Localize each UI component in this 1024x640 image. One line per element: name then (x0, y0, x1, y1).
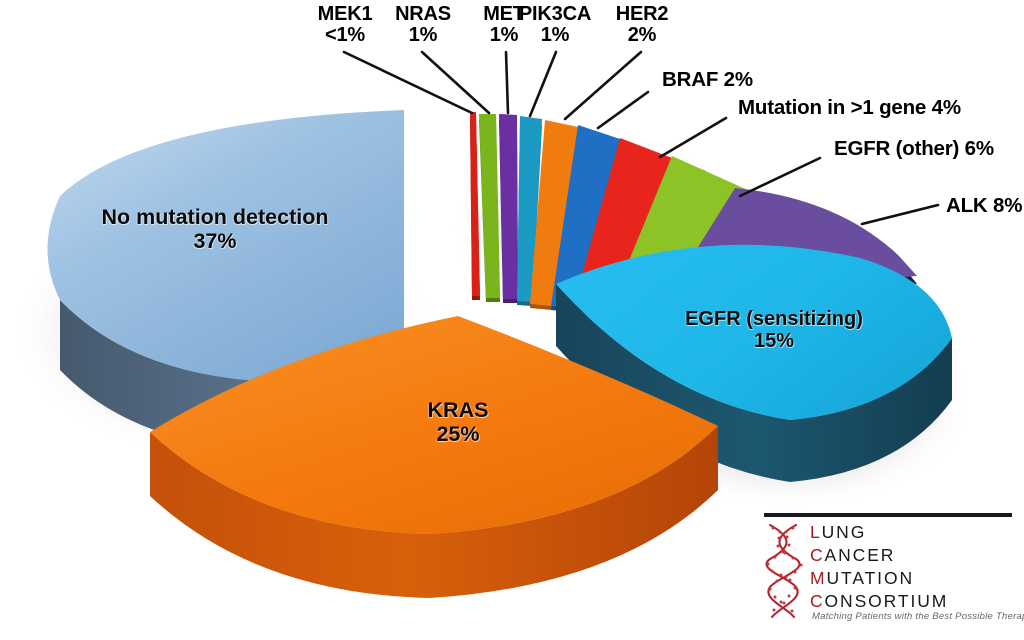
logo-wordmark: LUNG CANCER MUTATION CONSORTIUM (810, 521, 1018, 613)
slice-label-KRAS: KRAS 25% (378, 398, 538, 446)
slice-label-title-no-mutation: No mutation detection (102, 205, 329, 229)
logo-cap-c1: C (810, 545, 825, 565)
leader-HER2 (565, 52, 641, 119)
callout-label-ALK: ALK 8% (946, 195, 1022, 217)
dna-helix-icon (762, 521, 808, 619)
callout-label-BRAF: BRAF 2% (662, 69, 753, 91)
leader-PIK3CA (530, 52, 556, 116)
callout-label-NRAS: NRAS 1% (388, 4, 458, 46)
callout-title-PIK3CA: PIK3CA (519, 3, 591, 25)
leader-MEK1 (344, 52, 472, 113)
callout-label-MEK1: MEK1 <1% (305, 4, 385, 46)
callout-label-mutation-gt1-gene: Mutation in >1 gene 4% (738, 97, 961, 119)
callout-title-NRAS: NRAS (395, 3, 451, 25)
slice-label-EGFR-sensitizing: EGFR (sensitizing) 15% (663, 308, 885, 353)
leader-ALK (862, 205, 938, 224)
logo-line-mutation: MUTATION (810, 567, 1018, 590)
logo-divider-rule (764, 513, 1012, 517)
slice-label-pct-kras: 25% (378, 422, 538, 446)
callout-label-PIK3CA: PIK3CA 1% (509, 4, 601, 46)
logo-line-lung: LUNG (810, 521, 1018, 544)
slice-label-title-egfr-sens: EGFR (sensitizing) (685, 308, 863, 330)
slice-label-title-kras: KRAS (428, 398, 489, 422)
leader-EGFR-other (740, 158, 820, 196)
logo-cap-l: L (810, 522, 822, 542)
logo-rest-mutation: UTATION (826, 568, 914, 588)
logo-rest-cancer: ANCER (825, 545, 896, 565)
callout-label-EGFR-other: EGFR (other) 6% (834, 138, 994, 160)
chart-canvas: MEK1 <1% NRAS 1% MET 1% PIK3CA 1% HER2 2… (0, 0, 1024, 640)
callout-pct-PIK3CA: 1% (541, 24, 570, 46)
logo-cap-c2: C (810, 591, 825, 611)
callout-title-HER2: HER2 (616, 3, 669, 25)
logo-rest-consortium: ONSORTIUM (825, 591, 949, 611)
logo-tagline: Matching Patients with the Best Possible… (812, 611, 1024, 622)
logo-line-cancer: CANCER (810, 544, 1018, 567)
leader-BRAF (598, 92, 648, 128)
slice-label-pct-egfr-sens: 15% (663, 330, 885, 352)
slice-label-no-mutation-detection: No mutation detection 37% (70, 205, 360, 253)
callout-pct-MEK1: <1% (325, 24, 365, 46)
callout-pct-HER2: 2% (628, 24, 657, 46)
callout-label-HER2: HER2 2% (606, 4, 678, 46)
logo-rest-lung: UNG (822, 522, 867, 542)
logo-line-consortium: CONSORTIUM (810, 590, 1018, 613)
callout-pct-NRAS: 1% (409, 24, 438, 46)
logo-cap-m: M (810, 568, 826, 588)
callout-title-MEK1: MEK1 (318, 3, 373, 25)
leader-mutation-gt1 (660, 118, 726, 157)
lcmc-logo: LUNG CANCER MUTATION CONSORTIUM Matching… (762, 513, 1020, 635)
leader-MET (506, 52, 508, 113)
slice-label-pct-no-mutation: 37% (70, 229, 360, 253)
